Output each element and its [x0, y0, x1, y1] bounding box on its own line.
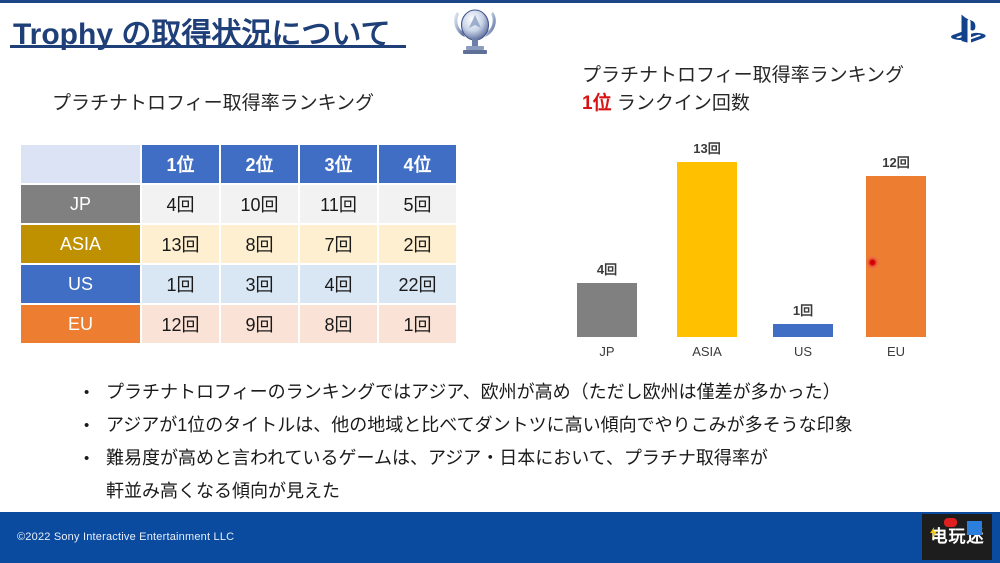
cell-us-2: 3回: [220, 264, 299, 304]
cell-jp-2: 10回: [220, 184, 299, 224]
watermark-blue-block-icon: [967, 521, 982, 535]
copyright-text: ©2022 Sony Interactive Entertainment LLC: [17, 531, 234, 543]
slide-canvas: Trophy の取得状況について プラチナトロフィー取得率ランキング: [0, 0, 1000, 563]
cell-asia-1: 13回: [141, 224, 220, 264]
cell-jp-1: 4回: [141, 184, 220, 224]
axis-label-us: US: [773, 344, 833, 359]
table-row: ASIA 13回 8回 7回 2回: [20, 224, 457, 264]
cell-asia-4: 2回: [378, 224, 457, 264]
bar-value-asia: 13回: [677, 138, 737, 157]
cell-jp-3: 11回: [299, 184, 378, 224]
list-item: • プラチナトロフィーのランキングではアジア、欧州が高め（ただし欧州は僅差が多か…: [84, 378, 964, 407]
chart-title-rank: 1位: [582, 93, 612, 114]
platinum-trophy-icon: [449, 6, 501, 56]
cell-us-4: 22回: [378, 264, 457, 304]
row-header-asia: ASIA: [20, 224, 141, 264]
bullet-marker-icon: •: [84, 411, 106, 440]
cell-us-1: 1回: [141, 264, 220, 304]
table-caption: プラチナトロフィー取得率ランキング: [52, 88, 374, 115]
cell-eu-3: 8回: [299, 304, 378, 344]
cell-eu-1: 12回: [141, 304, 220, 344]
row-header-eu: EU: [20, 304, 141, 344]
table-col-header-2: 2位: [220, 144, 299, 184]
table-col-header-1: 1位: [141, 144, 220, 184]
bar-value-us: 1回: [773, 300, 833, 319]
cell-eu-2: 9回: [220, 304, 299, 344]
bar-us: 1回: [773, 324, 833, 338]
cell-asia-2: 8回: [220, 224, 299, 264]
title-underline: [10, 45, 406, 48]
bullet-marker-icon: •: [84, 444, 106, 473]
table-col-header-3: 3位: [299, 144, 378, 184]
cell-asia-3: 7回: [299, 224, 378, 264]
bullet-text: 難易度が高めと言われているゲームは、アジア・日本において、プラチナ取得率が: [106, 444, 964, 473]
cell-us-3: 4回: [299, 264, 378, 304]
bar-value-jp: 4回: [577, 259, 637, 278]
table-header-row: 1位 2位 3位 4位: [20, 144, 457, 184]
row-header-jp: JP: [20, 184, 141, 224]
axis-label-asia: ASIA: [677, 344, 737, 359]
table-corner-cell: [20, 144, 141, 184]
chart-title-line1: プラチナトロフィー取得率ランキング: [582, 65, 904, 86]
bar-jp: 4回: [577, 283, 637, 337]
axis-label-jp: JP: [577, 344, 637, 359]
bullet-text: アジアが1位のタイトルは、他の地域と比べてダントツに高い傾向でやりこみが多そうな…: [106, 411, 964, 440]
ranking-table: 1位 2位 3位 4位 JP 4回 10回 11回 5回 ASIA 13回 8回…: [19, 143, 458, 345]
bar-value-eu: 12回: [866, 152, 926, 171]
bullet-text: プラチナトロフィーのランキングではアジア、欧州が高め（ただし欧州は僅差が多かった…: [106, 378, 964, 407]
axis-label-eu: EU: [866, 344, 926, 359]
bar-asia: 13回: [677, 162, 737, 337]
row-header-us: US: [20, 264, 141, 304]
chart-title: プラチナトロフィー取得率ランキング 1位 ランクイン回数: [582, 62, 904, 118]
cell-eu-4: 1回: [378, 304, 457, 344]
list-item: • 難易度が高めと言われているゲームは、アジア・日本において、プラチナ取得率が: [84, 444, 964, 473]
table-row: JP 4回 10回 11回 5回: [20, 184, 457, 224]
bar-chart: プラチナトロフィー取得率ランキング 1位 ランクイン回数 4回 13回 1回 1…: [560, 62, 960, 362]
table-col-header-4: 4位: [378, 144, 457, 184]
watermark-gamepad-icon: [944, 518, 957, 527]
top-rule: [0, 0, 1000, 3]
playstation-logo: [947, 12, 989, 45]
list-item-continuation: 軒並み高くなる傾向が見えた: [84, 477, 964, 506]
bullet-marker-icon: •: [84, 378, 106, 407]
bullet-list: • プラチナトロフィーのランキングではアジア、欧州が高め（ただし欧州は僅差が多か…: [84, 378, 964, 510]
chart-title-line2: ランクイン回数: [612, 93, 750, 114]
list-item: • アジアが1位のタイトルは、他の地域と比べてダントツに高い傾向でやりこみが多そ…: [84, 411, 964, 440]
watermark-char-2: 玩: [949, 529, 966, 546]
chart-plot-area: 4回 13回 1回 12回: [560, 162, 960, 337]
bullet-text: 軒並み高くなる傾向が見えた: [106, 477, 964, 506]
table-row: US 1回 3回 4回 22回: [20, 264, 457, 304]
cell-jp-4: 5回: [378, 184, 457, 224]
table-row: EU 12回 9回 8回 1回: [20, 304, 457, 344]
red-cursor-dot-icon: [866, 256, 879, 269]
